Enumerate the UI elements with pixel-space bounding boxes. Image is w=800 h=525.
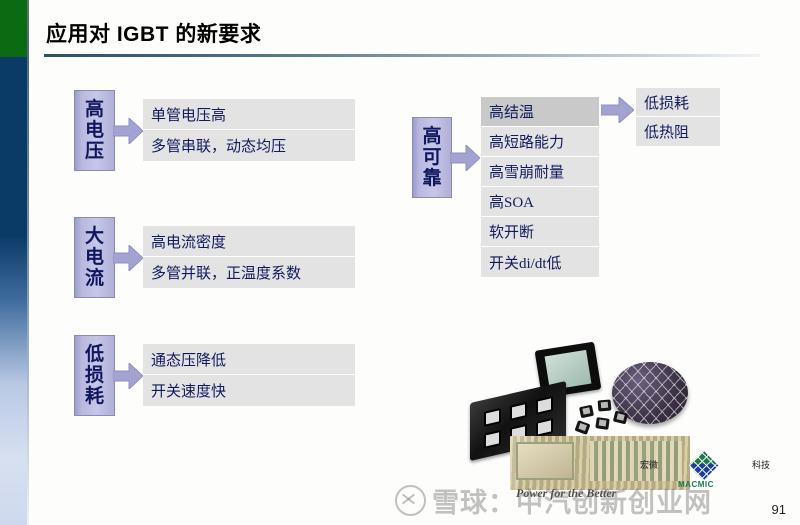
rail-edge-line: [27, 0, 29, 525]
detail-row: 高电流密度: [143, 226, 355, 257]
outcome-box: 低损耗 低热阻: [636, 88, 720, 146]
arrow-high-current: [113, 245, 143, 271]
detail-row: 高雪崩耐量: [481, 157, 599, 187]
left-rail: [0, 0, 27, 525]
detail-row: 开关速度快: [143, 375, 355, 406]
brand-tagline: Power for the Better: [516, 486, 616, 501]
brand-name-cn-right: 科技: [752, 458, 770, 471]
brand-wordmark: MACMIC: [678, 480, 714, 489]
detail-row: 高短路能力: [481, 127, 599, 157]
die-chip-image: [575, 420, 591, 435]
detail-row: 软开断: [481, 217, 599, 247]
detail-box-high-voltage: 单管电压高 多管串联，动态均压: [143, 99, 355, 161]
die-chip-image: [613, 411, 628, 425]
arrow-high-reliability: [450, 145, 480, 171]
outcome-row: 低损耗: [636, 88, 720, 117]
category-label-low-loss: 低损耗: [74, 335, 115, 416]
detail-row: 单管电压高: [143, 99, 355, 130]
rail-green-block: [0, 0, 27, 57]
watermark-logo-icon: [395, 485, 426, 516]
page-title: 应用对 IGBT 的新要求: [46, 18, 261, 48]
detail-box-low-loss: 通态压降低 开关速度快: [143, 344, 355, 406]
arrow-high-voltage: [113, 118, 143, 144]
page-number: 91: [772, 502, 786, 517]
detail-row: 多管串联，动态均压: [143, 130, 355, 161]
category-label-high-current: 大电流: [74, 217, 115, 298]
detail-row: 开关di/dt低: [481, 247, 599, 277]
arrow-low-loss: [113, 363, 143, 389]
outcome-row: 低热阻: [636, 117, 720, 146]
detail-row: 高结温: [481, 97, 599, 127]
title-underline: [44, 54, 760, 57]
brand-logo: 宏微 科技 MACMIC: [640, 452, 770, 492]
arrow-outcomes: [601, 97, 634, 123]
detail-row: 通态压降低: [143, 344, 355, 375]
die-chip-image: [595, 417, 609, 430]
category-label-high-reliability: 高可靠: [412, 117, 452, 198]
detail-box-high-reliability: 高结温 高短路能力 高雪崩耐量 高SOA 软开断 开关di/dt低: [481, 97, 599, 277]
detail-row: 多管并联，正温度系数: [143, 257, 355, 288]
brand-name-cn-left: 宏微: [640, 458, 658, 471]
die-chip-image: [598, 399, 612, 411]
macmic-diamond-icon: [686, 452, 720, 482]
rail-blue-gradient: [0, 57, 27, 525]
detail-row: 高SOA: [481, 187, 599, 217]
category-label-high-voltage: 高电压: [74, 90, 115, 171]
die-chip-image: [579, 405, 594, 418]
slide-canvas: 应用对 IGBT 的新要求 高电压 单管电压高 多管串联，动态均压 大电流 高电…: [0, 0, 800, 525]
detail-box-high-current: 高电流密度 多管并联，正温度系数: [143, 226, 355, 288]
